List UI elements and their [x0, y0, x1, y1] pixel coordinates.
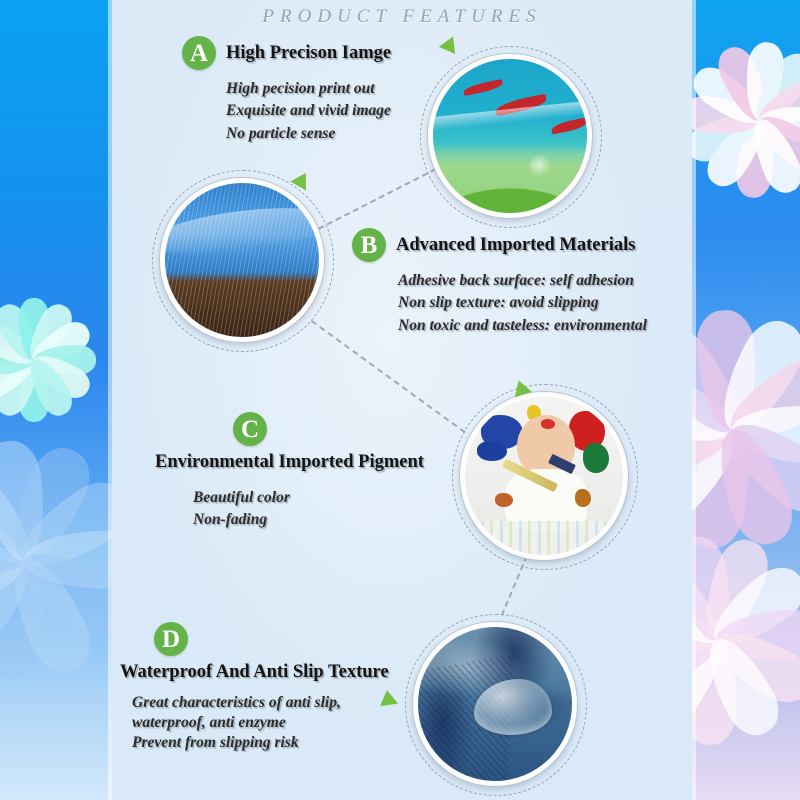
feature-c-body: Beautiful color Non-fading: [193, 487, 424, 532]
feature-a-line-3: No particle sense: [226, 123, 391, 145]
right-band-edge: [692, 0, 696, 800]
feature-a-body: High pecision print out Exquisite and vi…: [226, 78, 391, 145]
badge-a: A: [182, 36, 216, 70]
feature-a-line-1: High pecision print out: [226, 78, 391, 100]
feature-b-line-3: Non toxic and tasteless: environmental: [398, 315, 647, 337]
feature-b-heading: Advanced Imported Materials: [396, 235, 635, 256]
feature-a-heading: High Precison Iamge: [226, 43, 391, 64]
feature-a-line-2: Exquisite and vivid image: [226, 100, 391, 122]
feature-block-c: C Environmental Imported Pigment Beautif…: [155, 412, 424, 532]
page-title: PRODUCT FEATURES: [112, 6, 692, 28]
feature-d-heading: Waterproof And Anti Slip Texture: [120, 662, 389, 683]
feature-b-line-2: Non slip texture: avoid slipping: [398, 292, 647, 314]
water-droplet-on-fabric-photo: [413, 622, 577, 786]
koi-fish-in-water-photo: [428, 54, 592, 218]
feature-block-a: A High Precison Iamge High pecision prin…: [182, 36, 391, 145]
blue-woven-fabric-roll-photo: [160, 178, 324, 342]
badge-c: C: [233, 412, 267, 446]
feature-d-line-2: waterproof, anti enzyme: [132, 713, 389, 733]
feature-b-body: Adhesive back surface: self adhesion Non…: [398, 270, 647, 337]
feature-block-d: D Waterproof And Anti Slip Texture Great…: [120, 622, 389, 753]
feature-c-heading: Environmental Imported Pigment: [155, 452, 424, 473]
feature-b-line-1: Adhesive back surface: self adhesion: [398, 270, 647, 292]
feature-c-line-1: Beautiful color: [193, 487, 424, 509]
badge-b: B: [352, 228, 386, 262]
feature-d-line-1: Great characteristics of anti slip,: [132, 693, 389, 713]
baby-painting-photo: [460, 392, 628, 560]
product-features-infographic: PRODUCT FEATURES: [0, 0, 800, 800]
feature-c-line-2: Non-fading: [193, 509, 424, 531]
right-decoration-band: [692, 0, 800, 800]
badge-d: D: [154, 622, 188, 656]
feature-d-line-3: Prevent from slipping risk: [132, 733, 389, 753]
feature-d-body: Great characteristics of anti slip, wate…: [132, 693, 389, 753]
feature-block-b: B Advanced Imported Materials Adhesive b…: [352, 228, 647, 337]
left-decoration-band: [0, 0, 112, 800]
